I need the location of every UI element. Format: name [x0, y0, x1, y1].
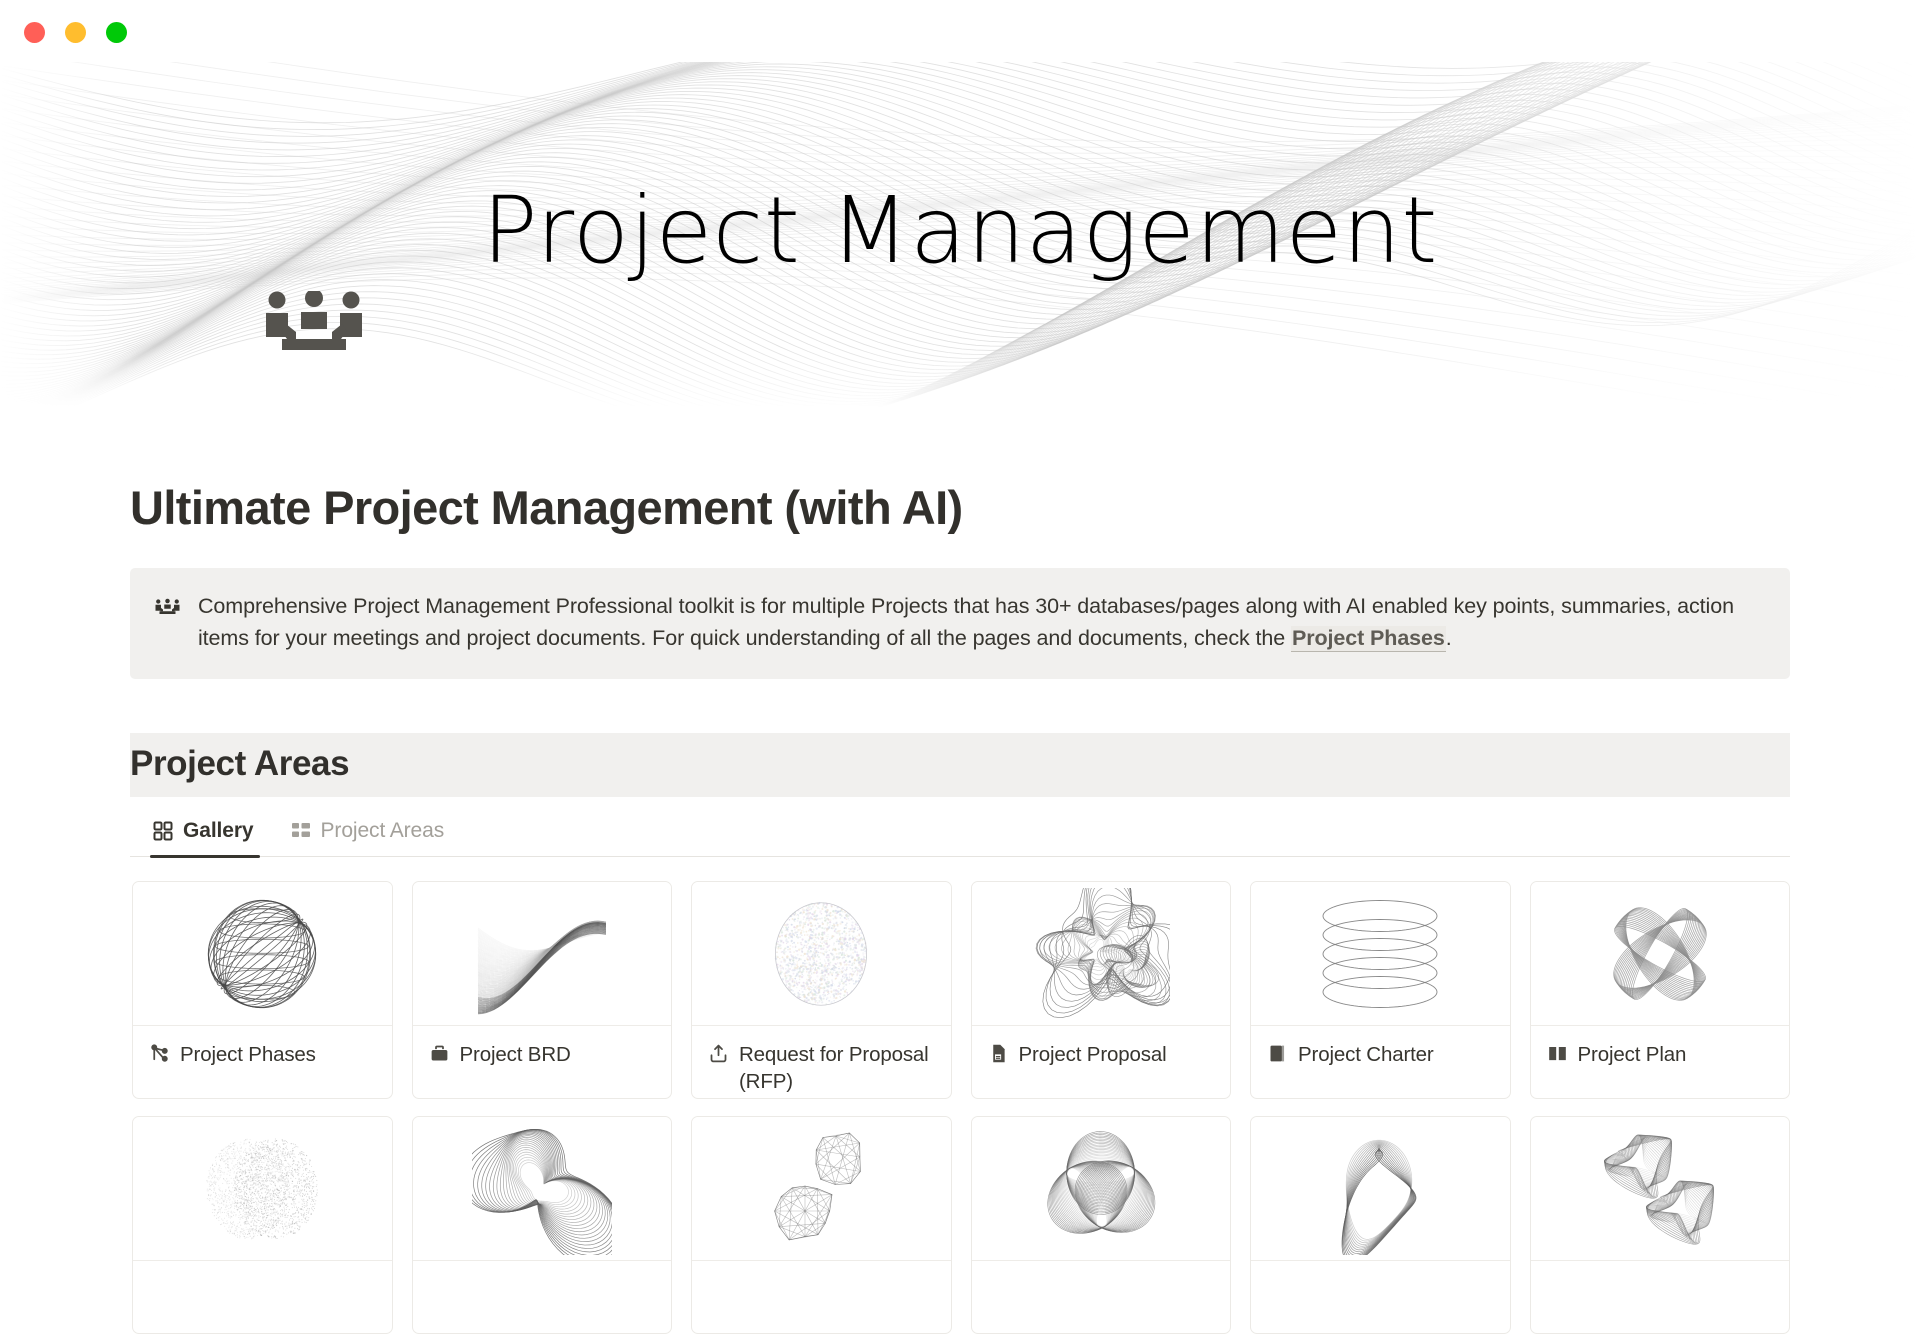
- hero-banner: Project Management: [0, 62, 1920, 407]
- briefcase-icon: [429, 1043, 450, 1064]
- gallery-card-row2-4[interactable]: [971, 1116, 1232, 1334]
- tab-gallery-label: Gallery: [183, 819, 254, 843]
- git-branch-icon: [149, 1043, 170, 1064]
- people-at-table-icon: [154, 596, 181, 618]
- traffic-lights: [24, 22, 127, 43]
- gallery-card-project-charter[interactable]: Project Charter: [1250, 881, 1511, 1099]
- project-phases-link[interactable]: Project Phases: [1291, 626, 1446, 652]
- gallery-card-row2-2[interactable]: [412, 1116, 673, 1334]
- card-label: Project Plan: [1578, 1041, 1687, 1068]
- card-label: Project Proposal: [1019, 1041, 1167, 1068]
- callout-text: Comprehensive Project Management Profess…: [198, 591, 1764, 654]
- gallery-card-project-phases[interactable]: Project Phases: [132, 881, 393, 1099]
- gallery-card-project-brd[interactable]: Project BRD: [412, 881, 673, 1099]
- card-cover-dotted-double-disc: [133, 1117, 392, 1261]
- card-cover-teardrop-loop: [1251, 1117, 1510, 1261]
- upload-share-icon: [708, 1043, 729, 1064]
- page-title: Ultimate Project Management (with AI): [130, 407, 1790, 535]
- gallery-card-row2-1[interactable]: [132, 1116, 393, 1334]
- card-cover-smooth-wave: [413, 882, 672, 1026]
- card-label: Project Phases: [180, 1041, 316, 1068]
- window-title-bar: [0, 0, 1920, 62]
- table-list-icon: [290, 820, 312, 842]
- card-cover-wire-sphere: [133, 882, 392, 1026]
- section-heading-band: Project Areas: [130, 733, 1790, 797]
- card-cover-contour-blob: [972, 882, 1231, 1026]
- section-title: Project Areas: [130, 744, 1790, 784]
- gallery-card-row2-3[interactable]: [691, 1116, 952, 1334]
- tab-project-areas-label: Project Areas: [321, 819, 445, 843]
- card-label: Project Charter: [1298, 1041, 1434, 1068]
- maximize-window-button[interactable]: [106, 22, 127, 43]
- view-tabs: Gallery Project Areas: [130, 815, 1790, 857]
- card-cover-stacked-ellipses: [1251, 882, 1510, 1026]
- gallery-card-row2-6[interactable]: [1530, 1116, 1791, 1334]
- gallery-grid: Project Phases Project BRD: [130, 881, 1790, 1334]
- gallery-card-project-plan[interactable]: Project Plan: [1530, 881, 1791, 1099]
- callout-box: Comprehensive Project Management Profess…: [130, 568, 1790, 679]
- tab-project-areas[interactable]: Project Areas: [288, 815, 451, 856]
- callout-text-before: Comprehensive Project Management Profess…: [198, 594, 1734, 650]
- card-cover-propeller-loops: [972, 1117, 1231, 1261]
- gallery-grid-icon: [152, 820, 174, 842]
- page-icon-people-at-table: [260, 291, 368, 353]
- document-icon: [988, 1043, 1009, 1064]
- callout-text-after: .: [1446, 626, 1452, 650]
- card-cover-polygon-rocks: [692, 1117, 951, 1261]
- minimize-window-button[interactable]: [65, 22, 86, 43]
- card-cover-ribbon-swirl: [413, 1117, 672, 1261]
- gallery-card-project-proposal[interactable]: Project Proposal: [971, 881, 1232, 1099]
- card-cover-twin-ribbons: [1531, 1117, 1790, 1261]
- card-label: Request for Proposal (RFP): [739, 1041, 935, 1096]
- notebook-icon: [1267, 1043, 1288, 1064]
- tab-gallery[interactable]: Gallery: [150, 815, 260, 856]
- close-window-button[interactable]: [24, 22, 45, 43]
- gallery-card-rfp[interactable]: Request for Proposal (RFP): [691, 881, 952, 1099]
- hero-title: Project Management: [0, 180, 1920, 281]
- card-cover-dotted-sphere: [692, 882, 951, 1026]
- open-book-icon: [1547, 1043, 1568, 1064]
- page-body: Ultimate Project Management (with AI) Co…: [0, 407, 1920, 1334]
- card-label: Project BRD: [460, 1041, 571, 1068]
- gallery-card-row2-5[interactable]: [1250, 1116, 1511, 1334]
- card-cover-cross-lissajous: [1531, 882, 1790, 1026]
